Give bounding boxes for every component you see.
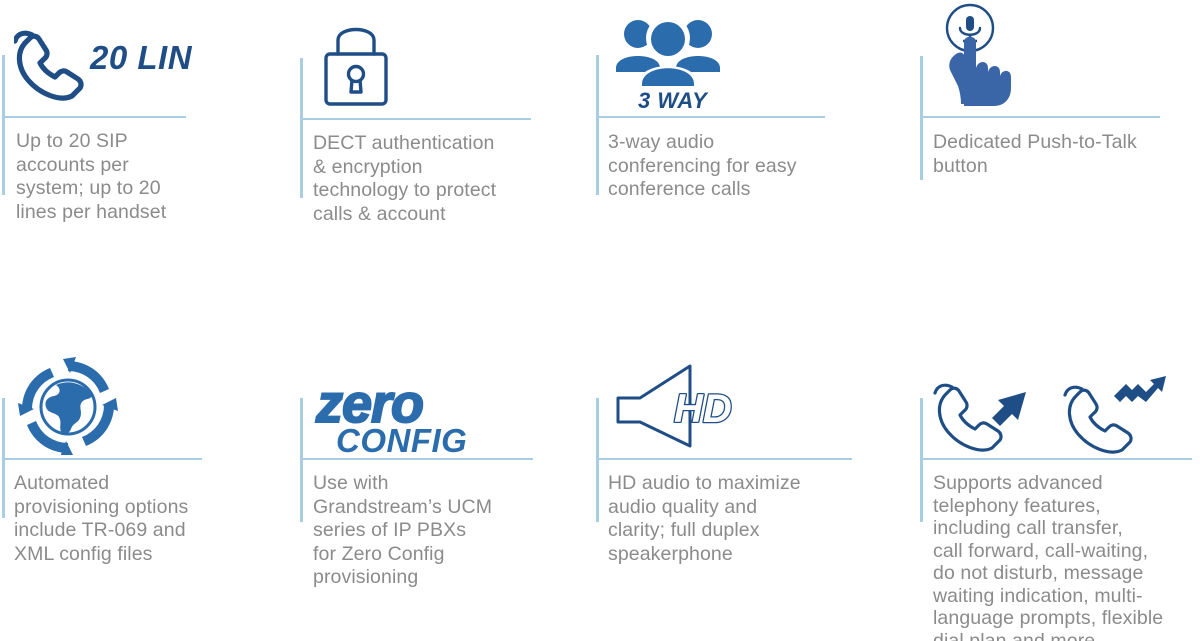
feature-caption: DECT authentication & encryption technol… [313, 132, 553, 226]
hand-pressing-microphone-button-icon [930, 2, 1038, 110]
feature-caption: 3-way audio conferencing for easy confer… [608, 131, 848, 202]
three-people-conference-icon: 3 WAY [612, 6, 732, 111]
vertical-rule [300, 398, 303, 522]
vertical-rule [2, 55, 5, 195]
horizontal-rule [596, 458, 852, 460]
icon-label-3-way: 3 WAY [638, 88, 709, 111]
call-transfer-forward-handsets-icon [930, 368, 1180, 456]
feature-caption: Up to 20 SIP accounts per system; up to … [16, 130, 226, 224]
vertical-rule [596, 398, 599, 522]
feature-caption: Supports advanced telephony features, in… [933, 472, 1200, 641]
feature-caption: Dedicated Push-to-Talk button [933, 131, 1193, 178]
horizontal-rule [920, 116, 1160, 118]
feature-grid: 20 LINES Up to 20 SIP accounts per syste… [0, 0, 1200, 641]
icon-label-hd: HD [674, 387, 732, 431]
horizontal-rule [2, 458, 202, 460]
padlock-icon [318, 10, 394, 110]
phone-handset-20-lines-icon: 20 LINES [14, 28, 192, 106]
horizontal-rule [920, 458, 1192, 460]
vertical-rule [596, 55, 599, 195]
horizontal-rule [596, 116, 825, 118]
feature-caption: HD audio to maximize audio quality and c… [608, 472, 858, 566]
horizontal-rule [300, 118, 531, 120]
vertical-rule [300, 58, 303, 198]
horizontal-rule [300, 458, 533, 460]
zero-config-logo-icon: zero zero CONFIG [310, 374, 482, 456]
icon-label-20-lines: 20 LINES [89, 39, 192, 76]
icon-label-config: CONFIG [336, 422, 467, 456]
vertical-rule [920, 398, 923, 522]
globe-sync-arrows-icon [16, 355, 120, 455]
vertical-rule [920, 56, 923, 180]
horizontal-rule [2, 116, 186, 118]
speaker-hd-icon: HD [612, 360, 748, 452]
feature-caption: Use with Grandstream’s UCM series of IP … [313, 472, 543, 590]
feature-caption: Automated provisioning options include T… [14, 472, 239, 566]
